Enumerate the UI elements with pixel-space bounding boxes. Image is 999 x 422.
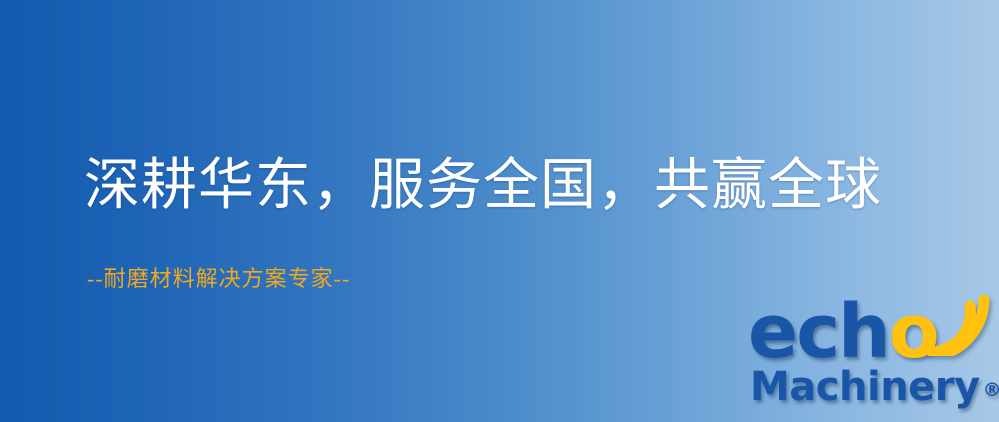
company-logo[interactable]: ech o Machinery® <box>748 296 992 418</box>
registered-trademark-icon: ® <box>983 379 999 401</box>
logo-text-ech: ech <box>748 296 889 369</box>
logo-tagline: Machinery® <box>750 364 999 410</box>
logo-tagline-text: Machinery <box>750 364 980 410</box>
wifi-signal-arcs-icon <box>926 294 992 356</box>
page-subtitle: --耐磨材料解决方案专家-- <box>87 266 350 292</box>
page-title: 深耕华东，服务全国，共赢全球 <box>84 155 882 218</box>
logo-wordmark: ech o <box>748 296 938 370</box>
hero-banner: 深耕华东，服务全国，共赢全球 --耐磨材料解决方案专家-- ech o Mach… <box>0 0 999 422</box>
